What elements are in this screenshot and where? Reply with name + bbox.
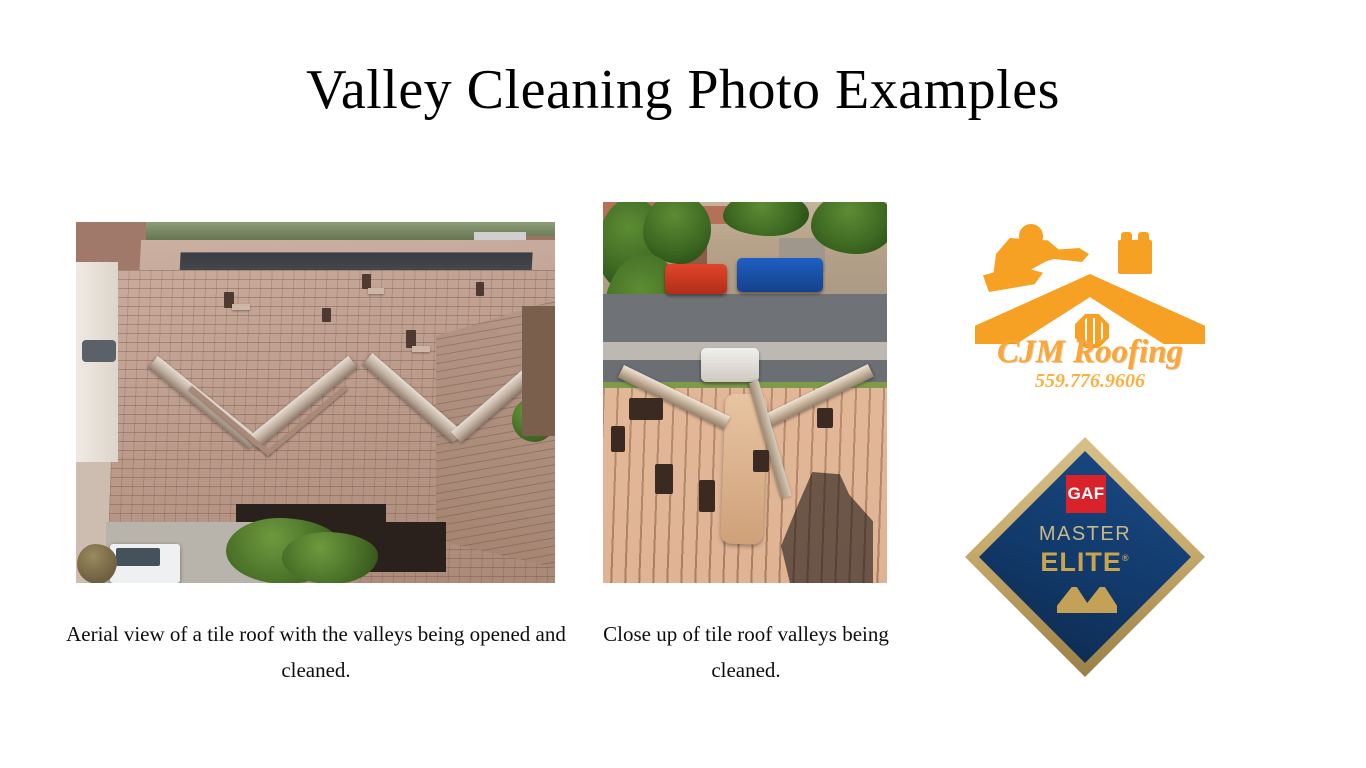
- loose-tile: [322, 308, 331, 322]
- gaf-master-elite-badge: GAF MASTER ELITE® RESIDENTIAL ROOFING CO…: [965, 437, 1205, 677]
- roof-vent: [82, 340, 116, 362]
- truck-cargo-rack: [116, 548, 160, 566]
- loose-tile: [412, 346, 430, 352]
- page-title: Valley Cleaning Photo Examples: [0, 60, 1366, 122]
- loose-tile: [629, 398, 663, 420]
- shrub: [77, 544, 117, 583]
- gaf-brand-mark: GAF: [1066, 475, 1106, 513]
- blue-pickup-truck: [737, 258, 823, 292]
- roofer-head-icon: [1019, 224, 1043, 248]
- red-suv: [665, 264, 727, 294]
- house-wall: [76, 262, 118, 462]
- cjm-roofing-logo: CJM Roofing 559.776.9606: [975, 222, 1205, 387]
- street: [603, 294, 887, 342]
- loose-tile: [476, 282, 484, 296]
- loose-tile: [655, 464, 673, 494]
- registered-trademark-icon: ®: [1122, 553, 1130, 563]
- white-car: [701, 348, 759, 382]
- shrub: [282, 532, 378, 583]
- loose-tile: [817, 408, 833, 428]
- chimney-icon: [1118, 240, 1152, 274]
- roofer-arm-icon: [1045, 248, 1089, 262]
- neighbor-fence: [522, 306, 555, 436]
- photo-closeup-tile-roof: [603, 202, 887, 583]
- loose-tile: [362, 274, 371, 289]
- loose-tile: [753, 450, 769, 472]
- cjm-phone-number: 559.776.9606: [975, 370, 1205, 393]
- caption-closeup: Close up of tile roof valleys being clea…: [588, 616, 904, 688]
- caption-aerial: Aerial view of a tile roof with the vall…: [56, 616, 576, 688]
- loose-tile: [232, 304, 250, 310]
- gaf-tier-elite: ELITE®: [965, 547, 1205, 578]
- loose-tile: [368, 288, 384, 294]
- gaf-brand-text: GAF: [1068, 484, 1105, 504]
- gaf-tier-master: MASTER: [965, 523, 1205, 546]
- loose-tile: [699, 480, 715, 512]
- cjm-company-name: CJM Roofing: [975, 334, 1205, 371]
- photo-aerial-tile-roof: [76, 222, 555, 583]
- loose-tile: [611, 426, 625, 452]
- gaf-tier-elite-text: ELITE: [1040, 547, 1122, 577]
